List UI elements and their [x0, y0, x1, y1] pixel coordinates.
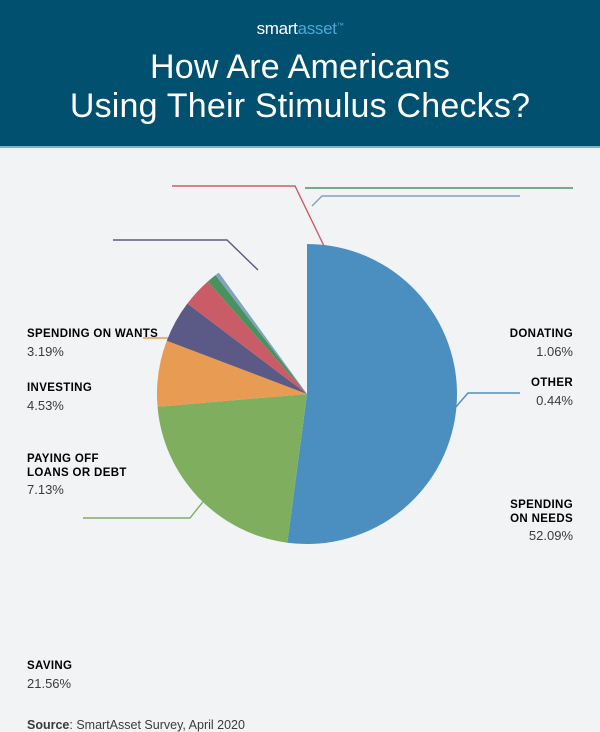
callout-investing: INVESTING 4.53%: [27, 382, 92, 414]
callout-label-paying-off-loans-line-1: PAYING OFF: [27, 453, 127, 467]
callout-spending-on-needs: SPENDING ON NEEDS 52.09%: [400, 499, 573, 544]
header-banner: smartasset™ How Are Americans Using Thei…: [0, 0, 600, 148]
callout-label-other: OTHER: [400, 377, 573, 391]
callout-label-spending-on-needs-line-2: ON NEEDS: [400, 513, 573, 527]
callout-paying-off-loans-or-debt: PAYING OFF LOANS OR DEBT 7.13%: [27, 453, 127, 498]
callout-label-spending-on-wants: SPENDING ON WANTS: [27, 328, 158, 342]
callout-value-saving: 21.56%: [27, 676, 72, 692]
callout-value-spending-on-wants: 3.19%: [27, 344, 158, 360]
callout-value-investing: 4.53%: [27, 398, 92, 414]
logo-text-smart: smart: [257, 19, 298, 38]
page-title-line-2: Using Their Stimulus Checks?: [0, 87, 600, 126]
callout-spending-on-wants: SPENDING ON WANTS 3.19%: [27, 328, 158, 360]
pie-slice-saving[interactable]: [158, 394, 307, 543]
source-label: Source: [27, 718, 69, 732]
callout-saving: SAVING 21.56%: [27, 660, 72, 692]
callout-label-donating: DONATING: [400, 328, 573, 342]
callout-donating: DONATING 1.06%: [400, 328, 573, 360]
callout-label-paying-off-loans-line-2: LOANS OR DEBT: [27, 467, 127, 481]
source-separator: :: [69, 718, 76, 732]
callout-value-donating: 1.06%: [400, 344, 573, 360]
source-text: SmartAsset Survey, April 2020: [76, 718, 245, 732]
callout-value-paying-off-loans: 7.13%: [27, 482, 127, 498]
source-note: Source: SmartAsset Survey, April 2020: [27, 718, 245, 732]
callout-label-saving: SAVING: [27, 660, 72, 674]
leader-line-investing: [113, 240, 258, 270]
callout-label-investing: INVESTING: [27, 382, 92, 396]
callout-other: OTHER 0.44%: [400, 377, 573, 409]
smartasset-logo: smartasset™: [0, 19, 600, 39]
chart-area: SPENDING ON WANTS 3.19% INVESTING 4.53% …: [0, 148, 600, 615]
logo-trademark-icon: ™: [337, 22, 344, 29]
page-title-line-1: How Are Americans: [0, 48, 600, 87]
callout-label-spending-on-needs-line-1: SPENDING: [400, 499, 573, 513]
logo-text-asset: asset: [298, 19, 337, 38]
leader-line-spending-on-wants: [172, 186, 325, 248]
infographic-canvas: smartasset™ How Are Americans Using Thei…: [0, 0, 600, 615]
callout-value-spending-on-needs: 52.09%: [400, 528, 573, 544]
callout-value-other: 0.44%: [400, 393, 573, 409]
leader-line-other: [312, 196, 520, 206]
